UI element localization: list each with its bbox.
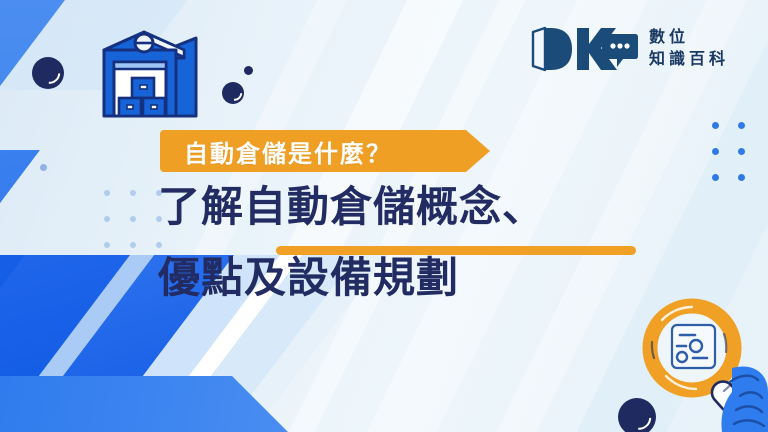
- dot-icon: [244, 66, 253, 75]
- headline-block: 了解自動倉儲概念、 優點及設備規劃: [158, 183, 678, 302]
- crescent-circle-icon: [222, 82, 244, 104]
- warehouse-icon: [88, 26, 206, 124]
- headline-line-1: 了解自動倉儲概念、: [158, 183, 678, 230]
- brand-name-line2: 知識百科: [649, 50, 729, 70]
- marketing-banner: 數位 知識百科 自動倉儲是什麼？ 了解自動倉儲概念、 優點及設備規劃: [0, 0, 768, 432]
- dot-grid-right-icon: [712, 122, 764, 200]
- crescent-circle-icon: [32, 57, 64, 89]
- topic-tag-banner: 自動倉儲是什麼？: [160, 130, 490, 172]
- dkp-logo-mark-icon: [531, 26, 639, 72]
- magnifying-glass-icon: [636, 296, 768, 432]
- brand-name: 數位 知識百科: [649, 28, 729, 70]
- dot-icon: [40, 164, 47, 171]
- brand-logo[interactable]: 數位 知識百科: [531, 26, 729, 72]
- topic-tag-label: 自動倉儲是什麼？: [160, 134, 392, 169]
- headline-underline: [276, 246, 636, 255]
- headline-line-2: 優點及設備規劃: [158, 254, 678, 301]
- brand-name-line1: 數位: [649, 28, 729, 48]
